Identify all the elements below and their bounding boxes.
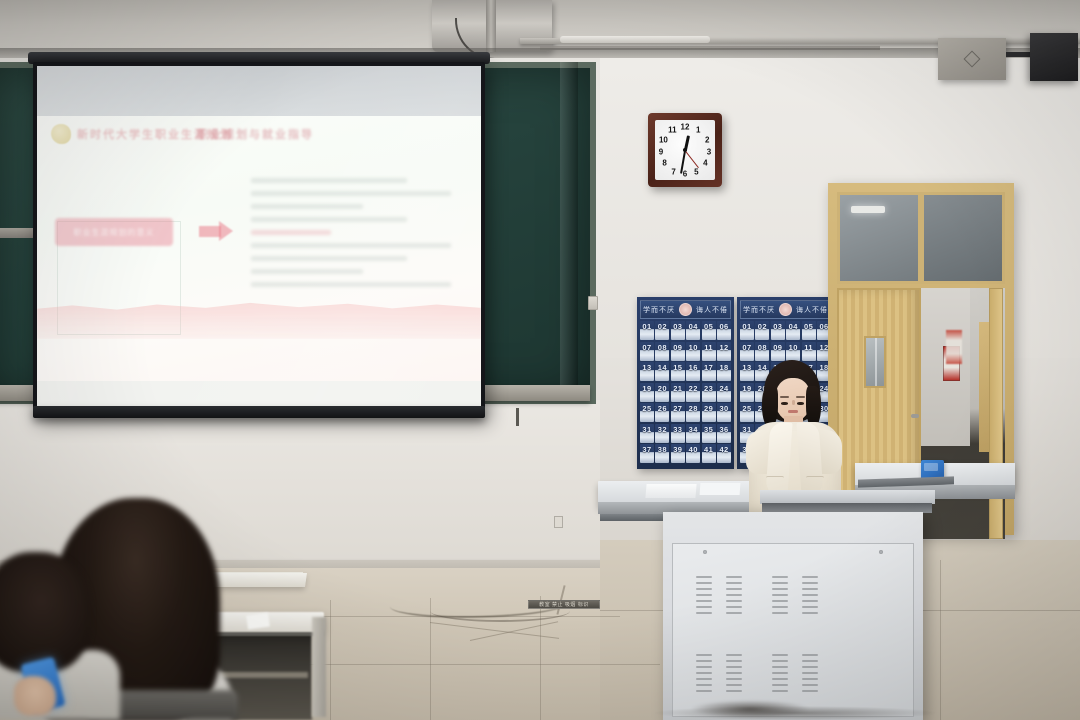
podium-vent — [726, 654, 742, 696]
phone-pocket[interactable]: 13 — [640, 362, 654, 381]
phone-pocket-number: 06 — [717, 322, 731, 331]
phone-pocket-number: 36 — [717, 425, 731, 434]
pocket-board-header-right: 诲人不倦 — [796, 305, 828, 315]
ceiling-light-fixture — [560, 36, 710, 43]
clock-numeral: 12 — [681, 123, 690, 132]
phone-pocket-number: 23 — [702, 384, 716, 393]
pocket-board-header-right: 诲人不倦 — [696, 305, 728, 315]
phone-pocket-number: 09 — [671, 343, 685, 352]
slide-body-text — [251, 178, 451, 295]
phone-pocket[interactable]: 11 — [802, 342, 816, 361]
door-vision-panel — [864, 336, 886, 388]
phone-pocket-number: 25 — [640, 404, 654, 413]
phone-pocket[interactable]: 28 — [686, 403, 700, 422]
clock-face: 12 1 2 3 4 5 6 7 8 9 10 11 — [655, 120, 715, 180]
door-transom — [837, 192, 1005, 284]
phone-pocket-number: 22 — [686, 384, 700, 393]
phone-pocket[interactable]: 40 — [686, 444, 700, 463]
podium-vent — [696, 654, 712, 696]
phone-pocket-number: 05 — [702, 322, 716, 331]
foreground-student-with-phone-head — [0, 552, 90, 672]
phone-pocket[interactable]: 04 — [686, 321, 700, 340]
phone-pocket-number: 40 — [686, 445, 700, 454]
phone-pocket-number: 07 — [640, 343, 654, 352]
right-arrow-icon — [199, 221, 233, 241]
presentation-slide: 新时代大学生职业生涯规划 职业规划与就业指导 职业生涯规划的意义 — [37, 116, 481, 381]
wall-plaque: 教室 禁止 吸烟 标识 — [528, 600, 600, 609]
phone-pocket-number: 29 — [702, 404, 716, 413]
phone-pocket-number: 24 — [717, 384, 731, 393]
phone-pocket-number: 13 — [640, 363, 654, 372]
phone-pocket-number: 02 — [755, 322, 769, 331]
door-leaf-open[interactable] — [989, 288, 1003, 539]
podium-vent — [772, 576, 788, 618]
pocket-grid: 0102030405060708091011121314151617181920… — [640, 321, 731, 463]
presenter-nose — [792, 400, 795, 405]
wall-speaker — [1030, 33, 1078, 81]
slide-highlight-text: 职业生涯规划的意义 — [74, 227, 155, 238]
phone-pocket-number: 19 — [640, 384, 654, 393]
phone-pocket-number: 31 — [640, 425, 654, 434]
wall-plaque-text: 教室 禁止 吸烟 标识 — [539, 601, 589, 608]
podium-center-surface — [760, 490, 935, 504]
phone-pocket-number: 15 — [671, 363, 685, 372]
phone-pocket[interactable]: 04 — [786, 321, 800, 340]
phone-pocket-number: 27 — [671, 404, 685, 413]
phone-pocket-number: 08 — [755, 343, 769, 352]
wall-socket-lower[interactable] — [554, 516, 563, 528]
phone-pocket[interactable]: 26 — [655, 403, 669, 422]
podium-floor-shadow — [655, 706, 935, 720]
phone-pocket[interactable]: 35 — [702, 424, 716, 443]
pocket-board-header: 学而不厌 诲人不倦 — [640, 300, 731, 319]
phone-pocket[interactable]: 16 — [686, 362, 700, 381]
phone-pocket[interactable]: 20 — [655, 383, 669, 402]
phone-pocket-number: 42 — [717, 445, 731, 454]
phone-pocket[interactable]: 23 — [702, 383, 716, 402]
phone-pocket-number: 39 — [671, 445, 685, 454]
phone-pocket-number: 11 — [702, 343, 716, 352]
phone-pocket[interactable]: 38 — [655, 444, 669, 463]
phone-pocket[interactable]: 14 — [655, 362, 669, 381]
clock-numeral: 8 — [662, 159, 666, 168]
projection-screen-surface: 新时代大学生职业生涯规划 职业规划与就业指导 职业生涯规划的意义 — [37, 66, 481, 413]
podium-paper[interactable] — [700, 483, 741, 495]
screen-pull-cord[interactable] — [516, 408, 519, 426]
phone-pocket[interactable]: 10 — [686, 342, 700, 361]
phone-pocket[interactable]: 21 — [671, 383, 685, 402]
presenter-eye-right — [797, 402, 804, 405]
clock-numeral: 11 — [668, 126, 676, 135]
phone-pocket-number: 26 — [655, 404, 669, 413]
slide-title-right: 职业规划与就业指导 — [197, 126, 314, 142]
phone-pocket[interactable]: 02 — [655, 321, 669, 340]
screen-blank-top — [37, 66, 481, 116]
phone-pocket-number: 17 — [702, 363, 716, 372]
wall-socket[interactable] — [588, 296, 598, 310]
phone-pocket-number: 07 — [740, 343, 754, 352]
phone-pocket[interactable]: 29 — [702, 403, 716, 422]
transom-pane-right — [921, 192, 1005, 284]
screen-bottom-bar — [33, 406, 485, 418]
phone-pocket-number: 37 — [640, 445, 654, 454]
phone-pocket-number: 12 — [717, 343, 731, 352]
foreground-student-hand — [14, 676, 56, 716]
presenter-eye-left — [781, 402, 788, 405]
clock-numeral: 1 — [696, 126, 700, 135]
phone-pocket-board-left[interactable]: 学而不厌 诲人不倦 010203040506070809101112131415… — [637, 297, 734, 469]
phone-pocket[interactable]: 31 — [640, 424, 654, 443]
phone-pocket[interactable]: 09 — [771, 342, 785, 361]
podium-screw — [703, 550, 707, 554]
phone-pocket[interactable]: 07 — [740, 342, 754, 361]
phone-pocket[interactable]: 42 — [717, 444, 731, 463]
phone-pocket-number: 01 — [740, 322, 754, 331]
phone-pocket[interactable]: 19 — [640, 383, 654, 402]
phone-pocket[interactable]: 41 — [702, 444, 716, 463]
phone-pocket[interactable]: 22 — [686, 383, 700, 402]
clock-numeral: 5 — [694, 167, 698, 176]
phone-pocket[interactable]: 11 — [702, 342, 716, 361]
phone-pocket[interactable]: 24 — [717, 383, 731, 402]
phone-pocket-number: 14 — [655, 363, 669, 372]
clock-center-pin — [683, 148, 687, 152]
door-handle[interactable] — [911, 414, 919, 418]
pocket-board-header: 学而不厌 诲人不倦 — [740, 300, 831, 319]
phone-pocket[interactable]: 33 — [671, 424, 685, 443]
phone-pocket-number: 10 — [686, 343, 700, 352]
phone-pocket-number: 41 — [702, 445, 716, 454]
phone-pocket-number: 38 — [655, 445, 669, 454]
phone-pocket-number: 04 — [786, 322, 800, 331]
presenter-eyebrow-right — [796, 396, 805, 398]
phone-pocket-number: 05 — [802, 322, 816, 331]
chalkboard-edge-highlight — [560, 62, 578, 392]
phone-pocket-number: 09 — [771, 343, 785, 352]
phone-pocket-number: 34 — [686, 425, 700, 434]
phone-pocket[interactable]: 10 — [786, 342, 800, 361]
phone-pocket[interactable]: 06 — [717, 321, 731, 340]
presenter-mouth — [788, 410, 798, 413]
floor-tile-seam — [330, 600, 331, 720]
podium-vent — [726, 576, 742, 618]
phone-pocket[interactable]: 07 — [640, 342, 654, 361]
phone-pocket[interactable]: 15 — [671, 362, 685, 381]
phone-pocket[interactable]: 01 — [740, 321, 754, 340]
projection-screen: 新时代大学生职业生涯规划 职业规划与就业指导 职业生涯规划的意义 — [33, 62, 485, 417]
phone-pocket-number: 21 — [671, 384, 685, 393]
pocket-board-header-left: 学而不厌 — [643, 305, 675, 315]
presenter-jacket-pocket-right — [806, 476, 824, 485]
phone-pocket-number: 02 — [655, 322, 669, 331]
phone-pocket-number: 03 — [771, 322, 785, 331]
phone-pocket-number: 03 — [671, 322, 685, 331]
phone-pocket[interactable]: 03 — [671, 321, 685, 340]
phone-pocket-number: 33 — [671, 425, 685, 434]
phone-pocket[interactable]: 03 — [771, 321, 785, 340]
phone-pocket[interactable]: 34 — [686, 424, 700, 443]
phone-pocket-number: 04 — [686, 322, 700, 331]
phone-pocket[interactable]: 25 — [640, 403, 654, 422]
school-seal-icon — [679, 303, 692, 316]
podium-front-panel[interactable] — [672, 543, 914, 717]
phone-pocket-number: 18 — [717, 363, 731, 372]
phone-pocket[interactable]: 18 — [717, 362, 731, 381]
phone-pocket-number: 35 — [702, 425, 716, 434]
phone-pocket-number: 08 — [655, 343, 669, 352]
school-seal-icon — [779, 303, 792, 316]
clock-numeral: 7 — [671, 167, 675, 176]
phone-pocket[interactable]: 09 — [671, 342, 685, 361]
phone-pocket[interactable]: 36 — [717, 424, 731, 443]
phone-pocket-number: 16 — [686, 363, 700, 372]
phone-pocket-number: 11 — [802, 343, 816, 352]
podium-vent — [802, 654, 818, 696]
school-emblem-icon — [51, 124, 71, 144]
phone-pocket[interactable]: 05 — [702, 321, 716, 340]
podium-paper[interactable] — [645, 484, 696, 498]
podium-vent — [802, 576, 818, 618]
phone-pocket-number: 10 — [786, 343, 800, 352]
phone-pocket[interactable]: 08 — [655, 342, 669, 361]
slide-highlight-box: 职业生涯规划的意义 — [55, 218, 173, 246]
phone-pocket-number: 01 — [640, 322, 654, 331]
podium-screw — [879, 550, 883, 554]
presenter-jacket-pocket-left — [766, 476, 784, 485]
clock-numeral: 6 — [683, 170, 687, 179]
podium-vent — [696, 576, 712, 618]
phone-pocket[interactable]: 37 — [640, 444, 654, 463]
classroom-photo-scene: 月知然 新时代大学生职业生涯规划 职业规划与就业指导 职业生涯规划的意义 — [0, 0, 1080, 720]
phone-pocket-number: 28 — [686, 404, 700, 413]
speaker-arm — [1006, 52, 1032, 57]
student-desk-side-panel — [312, 617, 326, 717]
clock-numeral: 9 — [659, 147, 663, 156]
corridor-sign-marker — [946, 330, 962, 364]
phone-pocket[interactable]: 05 — [802, 321, 816, 340]
speaker-mount-bracket — [938, 38, 1006, 80]
clock-numeral: 3 — [707, 147, 711, 156]
phone-pocket[interactable]: 39 — [671, 444, 685, 463]
pocket-board-header-left: 学而不厌 — [743, 305, 775, 315]
phone-pocket[interactable]: 32 — [655, 424, 669, 443]
phone-pocket-number: 32 — [655, 425, 669, 434]
corridor-ceiling-light — [851, 206, 885, 213]
wall-clock: 12 1 2 3 4 5 6 7 8 9 10 11 — [648, 113, 722, 187]
floor-tile-seam — [940, 560, 941, 720]
phone-pocket-number: 20 — [655, 384, 669, 393]
presenter-eyebrow-left — [780, 396, 789, 398]
phone-pocket[interactable]: 27 — [671, 403, 685, 422]
phone-pocket[interactable]: 01 — [640, 321, 654, 340]
phone-pocket-number: 30 — [717, 404, 731, 413]
podium-vent — [772, 654, 788, 696]
clock-second-hand — [685, 150, 699, 168]
phone-pocket[interactable]: 30 — [717, 403, 731, 422]
phone-pocket[interactable]: 02 — [755, 321, 769, 340]
phone-pocket[interactable]: 12 — [717, 342, 731, 361]
phone-pocket[interactable]: 08 — [755, 342, 769, 361]
phone-pocket[interactable]: 17 — [702, 362, 716, 381]
clock-numeral: 2 — [705, 136, 709, 145]
clock-numeral: 10 — [659, 136, 668, 145]
clock-numeral: 4 — [703, 159, 707, 168]
